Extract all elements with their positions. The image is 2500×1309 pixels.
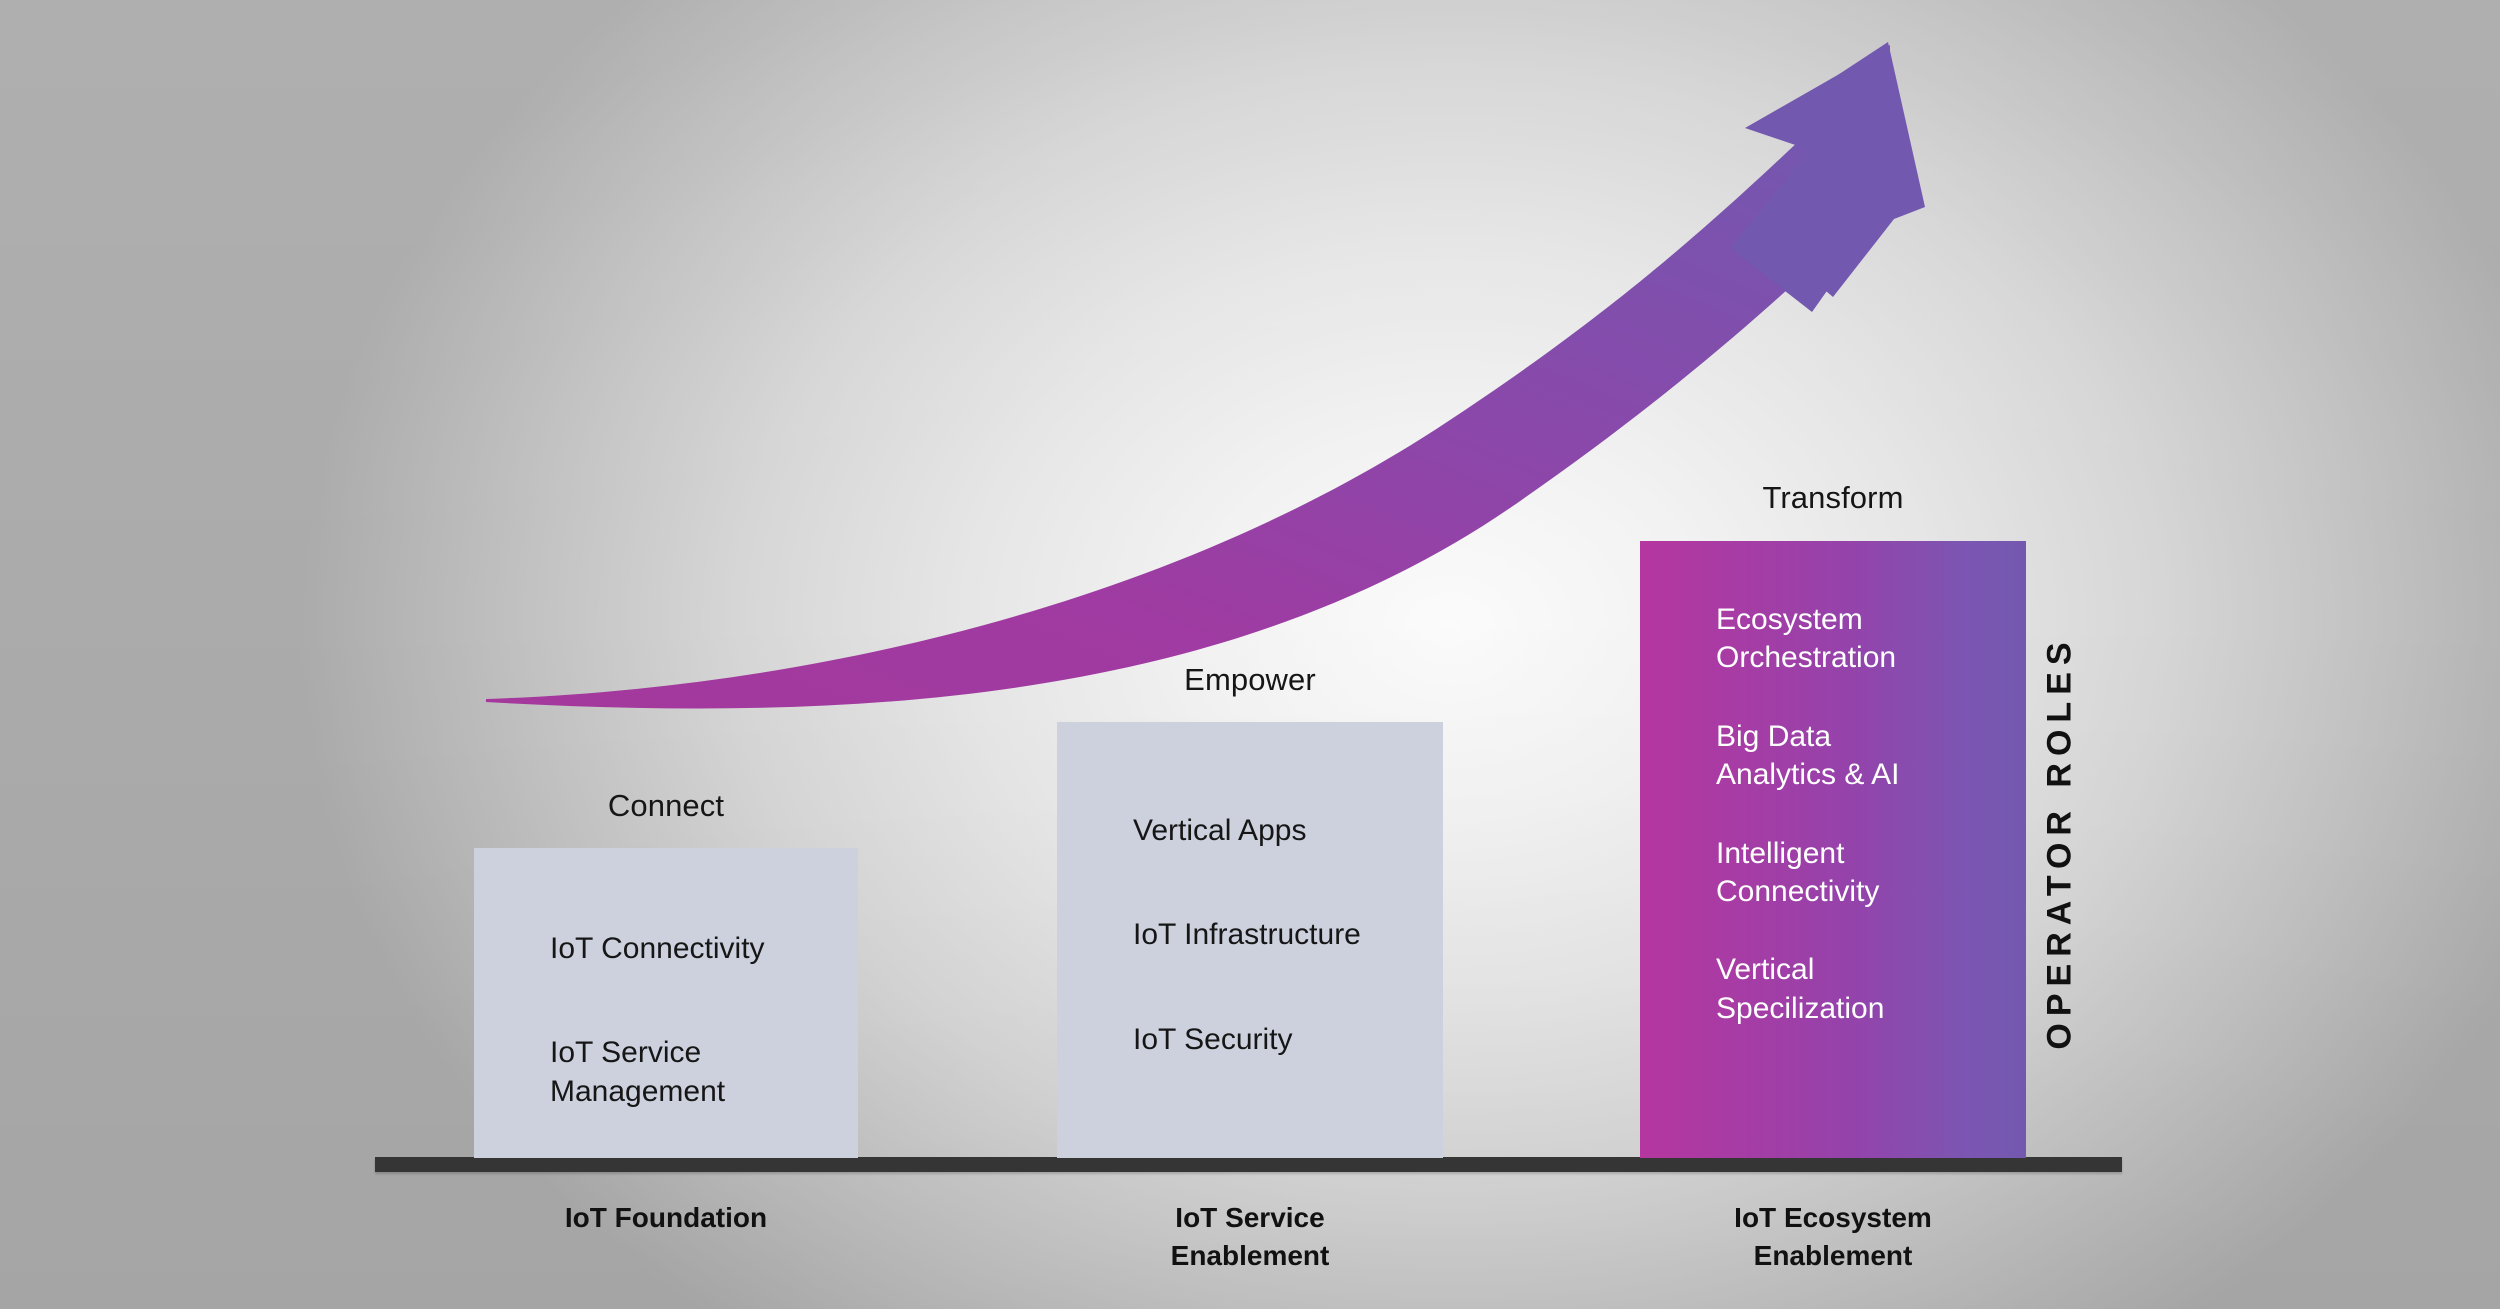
pillar-iot-service-enablement[interactable]: Vertical Apps IoT Infrastructure IoT Sec… bbox=[1057, 722, 1443, 1158]
pillar-1-item-0: IoT Connectivity bbox=[550, 930, 858, 968]
pillar-2-caption: IoT Service Enablement bbox=[1057, 1199, 1443, 1275]
pillar-1-item-list: IoT Connectivity IoT Service Management bbox=[474, 848, 858, 1158]
pillar-1-item-1: IoT Service Management bbox=[550, 1034, 858, 1111]
pillar-2-item-list: Vertical Apps IoT Infrastructure IoT Sec… bbox=[1057, 722, 1443, 1158]
infographic-canvas: Connect IoT Connectivity IoT Service Man… bbox=[0, 0, 2500, 1309]
pillar-2-item-2: IoT Security bbox=[1133, 1021, 1443, 1059]
pillar-2-item-0: Vertical Apps bbox=[1133, 812, 1443, 850]
stage-label-transform: Transform bbox=[1640, 480, 2026, 516]
pillar-1-caption: IoT Foundation bbox=[474, 1199, 858, 1237]
pillar-iot-ecosystem-enablement[interactable]: Ecosystem Orchestration Big Data Analyti… bbox=[1640, 541, 2026, 1158]
pillar-3-item-2: Intelligent Connectivity bbox=[1716, 835, 2026, 912]
pillar-3-item-0: Ecosystem Orchestration bbox=[1716, 601, 2026, 678]
pillar-2-item-1: IoT Infrastructure bbox=[1133, 916, 1443, 954]
operator-roles-axis-label: OPERATOR ROLES bbox=[2030, 612, 2090, 1072]
stage-label-connect: Connect bbox=[474, 788, 858, 824]
operator-roles-axis-label-text: OPERATOR ROLES bbox=[2041, 635, 2080, 1049]
pillar-3-item-3: Vertical Specilization bbox=[1716, 951, 2026, 1028]
pillar-iot-foundation[interactable]: IoT Connectivity IoT Service Management bbox=[474, 848, 858, 1158]
pillar-3-item-list: Ecosystem Orchestration Big Data Analyti… bbox=[1640, 541, 2026, 1158]
pillar-3-caption: IoT Ecosystem Enablement bbox=[1640, 1199, 2026, 1275]
stage-label-empower: Empower bbox=[1057, 662, 1443, 698]
pillar-3-item-1: Big Data Analytics & AI bbox=[1716, 718, 2026, 795]
chart-baseline bbox=[375, 1157, 2122, 1172]
